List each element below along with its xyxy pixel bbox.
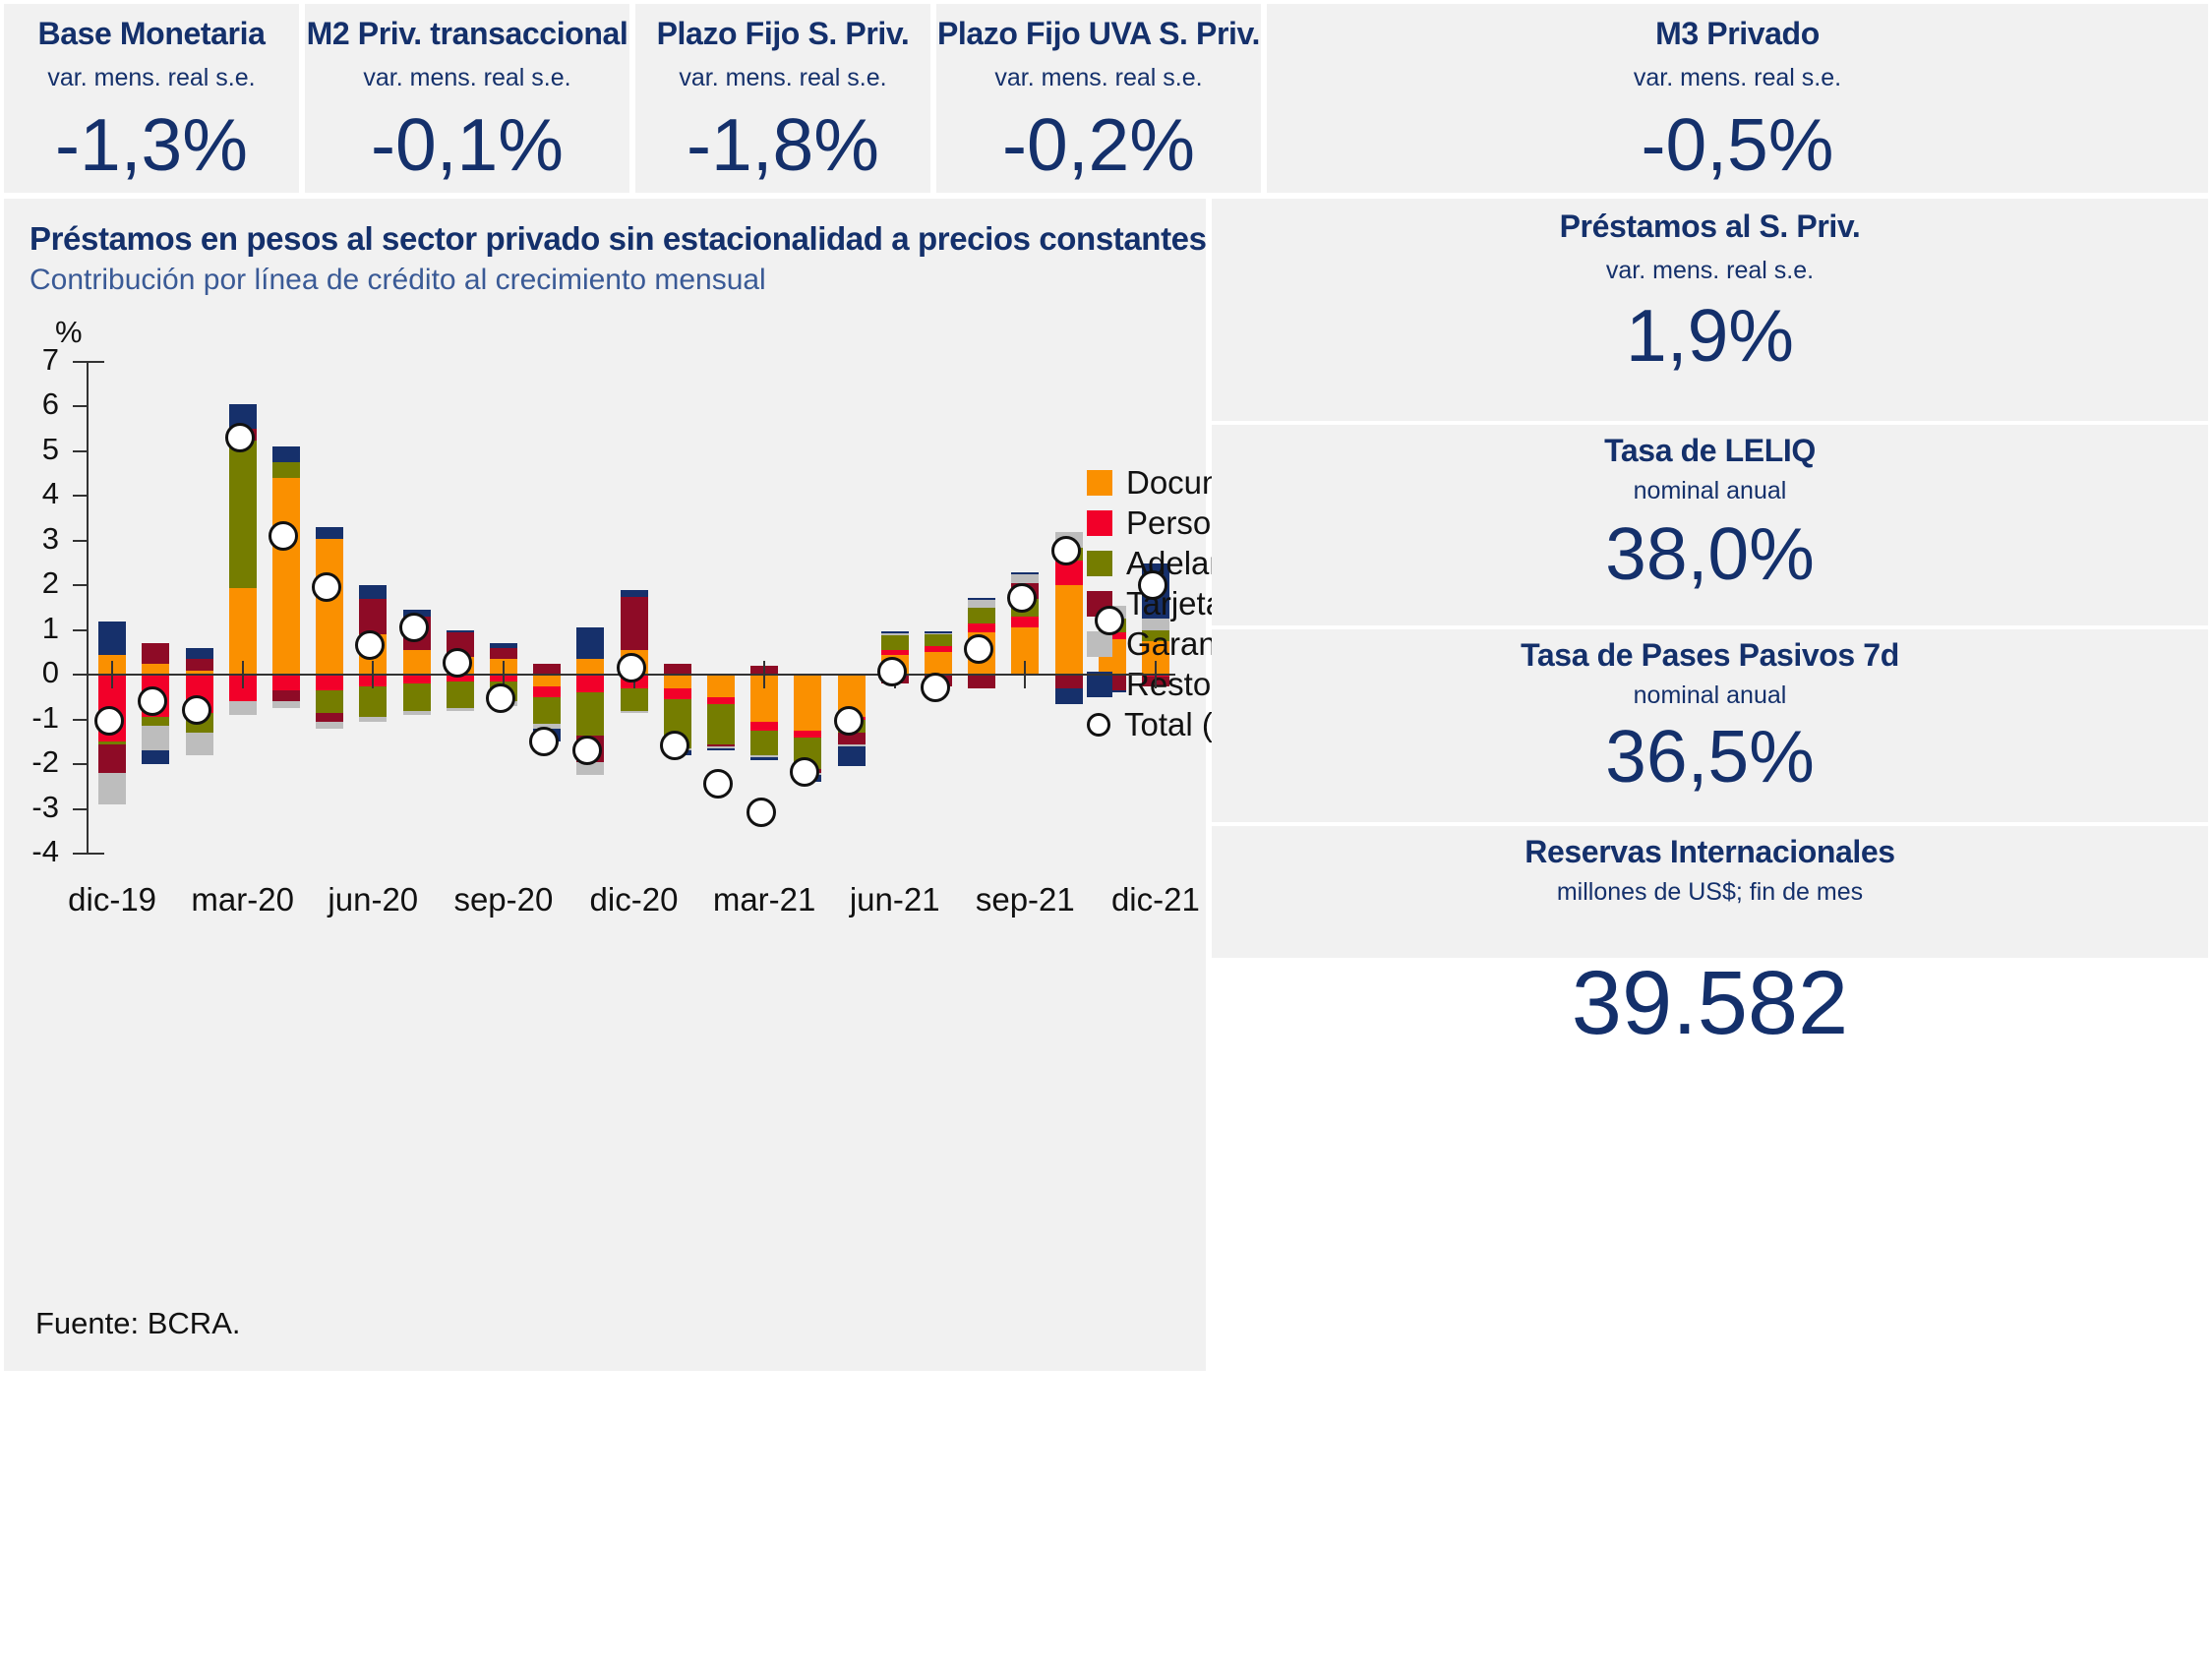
- y-axis-tick-label: 7: [0, 344, 59, 375]
- bar-segment: [1055, 585, 1083, 675]
- bar-segment: [447, 708, 474, 710]
- kpi-subtitle: var. mens. real s.e.: [4, 64, 299, 92]
- total-marker: [225, 423, 255, 452]
- bar-segment: [447, 630, 474, 632]
- bar-column[interactable]: [576, 362, 604, 854]
- bar-segment: [272, 690, 300, 701]
- bar-segment: [576, 675, 604, 692]
- total-marker: [138, 686, 167, 716]
- chart-subtitle: Contribución por línea de crédito al cre…: [30, 264, 766, 297]
- y-axis-tick-label: 2: [0, 567, 59, 598]
- y-axis-tick-label: -2: [0, 746, 59, 777]
- bar-segment: [316, 690, 343, 713]
- kpi-title: M3 Privado: [1267, 16, 2208, 52]
- dashboard-root: Base Monetaria var. mens. real s.e. -1,3…: [0, 0, 2212, 1659]
- y-axis-tick-label: 3: [0, 523, 59, 554]
- legend-color-swatch: [1087, 510, 1112, 536]
- bar-segment: [707, 748, 735, 750]
- kpi-value: 38,0%: [1212, 511, 2208, 596]
- y-axis-tick: [73, 584, 89, 586]
- bar-column[interactable]: [98, 362, 126, 854]
- bar-column[interactable]: [968, 362, 995, 854]
- bar-segment: [664, 688, 691, 699]
- bar-segment: [838, 746, 866, 766]
- bar-column[interactable]: [272, 362, 300, 854]
- bar-segment: [794, 675, 821, 731]
- y-axis-tick-label: -3: [0, 792, 59, 822]
- bar-segment: [750, 722, 778, 731]
- bar-segment: [750, 731, 778, 755]
- kpi-subtitle: var. mens. real s.e.: [305, 64, 629, 92]
- bar-segment: [403, 711, 431, 716]
- bar-segment: [576, 692, 604, 735]
- total-marker: [660, 731, 689, 760]
- bar-column[interactable]: [750, 362, 778, 854]
- kpi-subtitle: nominal anual: [1212, 681, 2208, 710]
- kpi-title: Plazo Fijo UVA S. Priv.: [936, 16, 1261, 52]
- y-axis-tick-label: -1: [0, 702, 59, 733]
- y-axis-tick-label: 4: [0, 478, 59, 508]
- kpi-value: 36,5%: [1212, 714, 2208, 799]
- bar-segment: [968, 623, 995, 632]
- y-axis-tick-label: 1: [0, 613, 59, 643]
- bar-segment: [621, 711, 648, 713]
- total-marker: [703, 769, 733, 799]
- bar-segment: [142, 717, 169, 726]
- bar-segment: [1011, 617, 1039, 627]
- total-marker: [355, 630, 385, 660]
- bar-segment: [968, 599, 995, 608]
- kpi-title: Reservas Internacionales: [1212, 834, 2208, 870]
- bar-column[interactable]: [621, 362, 648, 854]
- total-marker: [269, 521, 298, 551]
- kpi-card-base-monetaria: Base Monetaria var. mens. real s.e. -1,3…: [4, 4, 299, 193]
- chart-plot-area: 76543210-1-2-3-4dic-19mar-20jun-20sep-20…: [87, 362, 1173, 854]
- legend-circle-marker: [1087, 713, 1110, 737]
- bar-segment: [186, 733, 213, 755]
- kpi-title: Tasa de Pases Pasivos 7d: [1212, 637, 2208, 674]
- bar-segment: [403, 675, 431, 683]
- bar-column[interactable]: [142, 362, 169, 854]
- y-axis-tick: [73, 763, 89, 765]
- y-axis-tick: [73, 450, 89, 452]
- kpi-card-m2-priv-transaccional: M2 Priv. transaccional var. mens. real s…: [305, 4, 629, 193]
- y-axis-tick: [73, 540, 89, 542]
- bar-column[interactable]: [316, 362, 343, 854]
- bar-segment: [359, 717, 387, 722]
- total-marker: [529, 727, 559, 756]
- bar-segment: [925, 631, 952, 633]
- bar-segment: [533, 697, 561, 724]
- bar-segment: [142, 643, 169, 663]
- y-axis-tick-label: 6: [0, 388, 59, 419]
- bar-segment: [968, 598, 995, 600]
- total-marker: [443, 648, 472, 678]
- bar-segment: [881, 650, 909, 655]
- bar-segment: [142, 750, 169, 764]
- total-marker: [1095, 606, 1124, 635]
- bar-segment: [881, 633, 909, 635]
- kpi-card-plazo-fijo-uva-s-priv: Plazo Fijo UVA S. Priv. var. mens. real …: [936, 4, 1261, 193]
- bar-segment: [229, 441, 257, 588]
- bar-segment: [968, 608, 995, 623]
- bar-segment: [447, 681, 474, 708]
- bar-column[interactable]: [186, 362, 213, 854]
- total-marker: [182, 695, 211, 725]
- kpi-card-tasa-de-leliq: Tasa de LELIQ nominal anual 38,0%: [1212, 425, 2208, 625]
- bar-segment: [98, 622, 126, 655]
- bar-segment: [576, 659, 604, 675]
- total-marker: [1138, 570, 1167, 600]
- y-axis-tick-label: 0: [0, 657, 59, 687]
- bar-segment: [229, 701, 257, 715]
- kpi-value-reservas: 39.582: [1212, 952, 2208, 1055]
- kpi-subtitle: millones de US$; fin de mes: [1212, 878, 2208, 907]
- bar-segment: [881, 631, 909, 633]
- bar-segment: [403, 650, 431, 675]
- bar-segment: [1011, 574, 1039, 583]
- kpi-title: Tasa de LELIQ: [1212, 433, 2208, 469]
- bar-segment: [490, 643, 517, 648]
- bar-column[interactable]: [490, 362, 517, 854]
- bar-segment: [316, 713, 343, 722]
- bar-segment: [316, 675, 343, 690]
- total-marker: [572, 736, 602, 765]
- bar-segment: [621, 590, 648, 597]
- bar-column[interactable]: [447, 362, 474, 854]
- bar-column[interactable]: [664, 362, 691, 854]
- y-axis-unit-label: %: [55, 315, 83, 350]
- bar-segment: [621, 688, 648, 711]
- total-marker: [834, 706, 864, 736]
- bar-segment: [490, 648, 517, 659]
- bar-segment: [98, 744, 126, 774]
- kpi-subtitle: nominal anual: [1212, 477, 2208, 505]
- y-axis-end-cap: [87, 853, 104, 855]
- kpi-card-prestamos-al-s-priv: Préstamos al S. Priv. var. mens. real s.…: [1212, 199, 2208, 421]
- legend-item-label: Resto: [1126, 666, 1211, 703]
- y-axis-tick-label: 5: [0, 434, 59, 464]
- bar-segment: [316, 539, 343, 676]
- bar-segment: [621, 597, 648, 651]
- bar-column[interactable]: [359, 362, 387, 854]
- kpi-value: -1,3%: [4, 102, 299, 187]
- bar-segment: [403, 683, 431, 710]
- y-axis-tick: [73, 808, 89, 810]
- kpi-title: Préstamos al S. Priv.: [1212, 208, 2208, 245]
- y-axis-line: [87, 362, 89, 854]
- bar-segment: [750, 757, 778, 759]
- bar-segment: [925, 646, 952, 653]
- bar-segment: [1011, 572, 1039, 574]
- chart-title: Préstamos en pesos al sector privado sin…: [30, 220, 1207, 258]
- bar-column[interactable]: [403, 362, 431, 854]
- bar-segment: [359, 686, 387, 718]
- bar-segment: [533, 686, 561, 697]
- y-axis-tick: [73, 405, 89, 407]
- bar-segment: [316, 722, 343, 729]
- kpi-subtitle: var. mens. real s.e.: [1212, 257, 2208, 285]
- total-marker: [921, 673, 950, 702]
- bar-segment: [968, 675, 995, 688]
- y-axis-tick: [73, 495, 89, 497]
- total-marker: [1051, 536, 1081, 565]
- bar-segment: [1055, 675, 1083, 688]
- bar-segment: [359, 585, 387, 599]
- bar-column[interactable]: [881, 362, 909, 854]
- kpi-card-reservas-internacionales: Reservas Internacionales millones de US$…: [1212, 826, 2208, 958]
- bar-segment: [186, 659, 213, 670]
- y-axis-tick: [73, 719, 89, 721]
- kpi-card-m3-privado: M3 Privado var. mens. real s.e. -0,5%: [1267, 4, 2208, 193]
- bar-segment: [1055, 688, 1083, 704]
- bar-segment: [925, 652, 952, 675]
- source-note: Fuente: BCRA.: [35, 1306, 240, 1341]
- bar-segment: [707, 704, 735, 744]
- y-axis-tick: [73, 629, 89, 631]
- kpi-subtitle: var. mens. real s.e.: [936, 64, 1261, 92]
- total-marker: [312, 572, 341, 602]
- legend-color-swatch: [1087, 470, 1112, 496]
- bar-column[interactable]: [925, 362, 952, 854]
- bar-segment: [533, 675, 561, 685]
- bar-segment: [707, 697, 735, 704]
- bar-column[interactable]: [838, 362, 866, 854]
- kpi-card-plazo-fijo-s-priv: Plazo Fijo S. Priv. var. mens. real s.e.…: [635, 4, 930, 193]
- bar-segment: [881, 634, 909, 650]
- total-marker: [399, 613, 429, 642]
- total-marker: [617, 653, 646, 682]
- kpi-subtitle: var. mens. real s.e.: [1267, 64, 2208, 92]
- bar-column[interactable]: [1055, 362, 1083, 854]
- bar-segment: [576, 627, 604, 659]
- bar-segment: [272, 478, 300, 675]
- kpi-value: -0,2%: [936, 102, 1261, 187]
- bar-segment: [186, 648, 213, 659]
- bar-segment: [272, 462, 300, 478]
- kpi-title: M2 Priv. transaccional: [305, 16, 629, 52]
- y-axis-end-cap: [87, 361, 104, 363]
- bar-segment: [272, 675, 300, 690]
- legend-color-swatch: [1087, 551, 1112, 576]
- kpi-value: -1,8%: [635, 102, 930, 187]
- bar-segment: [272, 446, 300, 462]
- bar-segment: [316, 527, 343, 538]
- kpi-subtitle: var. mens. real s.e.: [635, 64, 930, 92]
- bar-segment: [925, 634, 952, 645]
- bar-segment: [794, 731, 821, 738]
- kpi-card-tasa-de-pases-pasivos-7d: Tasa de Pases Pasivos 7d nominal anual 3…: [1212, 629, 2208, 822]
- kpi-title: Plazo Fijo S. Priv.: [635, 16, 930, 52]
- bar-segment: [272, 701, 300, 708]
- bar-column[interactable]: [533, 362, 561, 854]
- kpi-value: -0,5%: [1267, 102, 2208, 187]
- bar-segment: [142, 726, 169, 750]
- kpi-title: Base Monetaria: [4, 16, 299, 52]
- total-marker: [877, 657, 907, 686]
- bar-segment: [359, 599, 387, 634]
- kpi-value: -0,1%: [305, 102, 629, 187]
- bar-segment: [707, 675, 735, 697]
- bar-segment: [664, 675, 691, 688]
- bar-segment: [98, 773, 126, 804]
- kpi-value: 1,9%: [1212, 293, 2208, 378]
- y-axis-tick-label: -4: [0, 836, 59, 866]
